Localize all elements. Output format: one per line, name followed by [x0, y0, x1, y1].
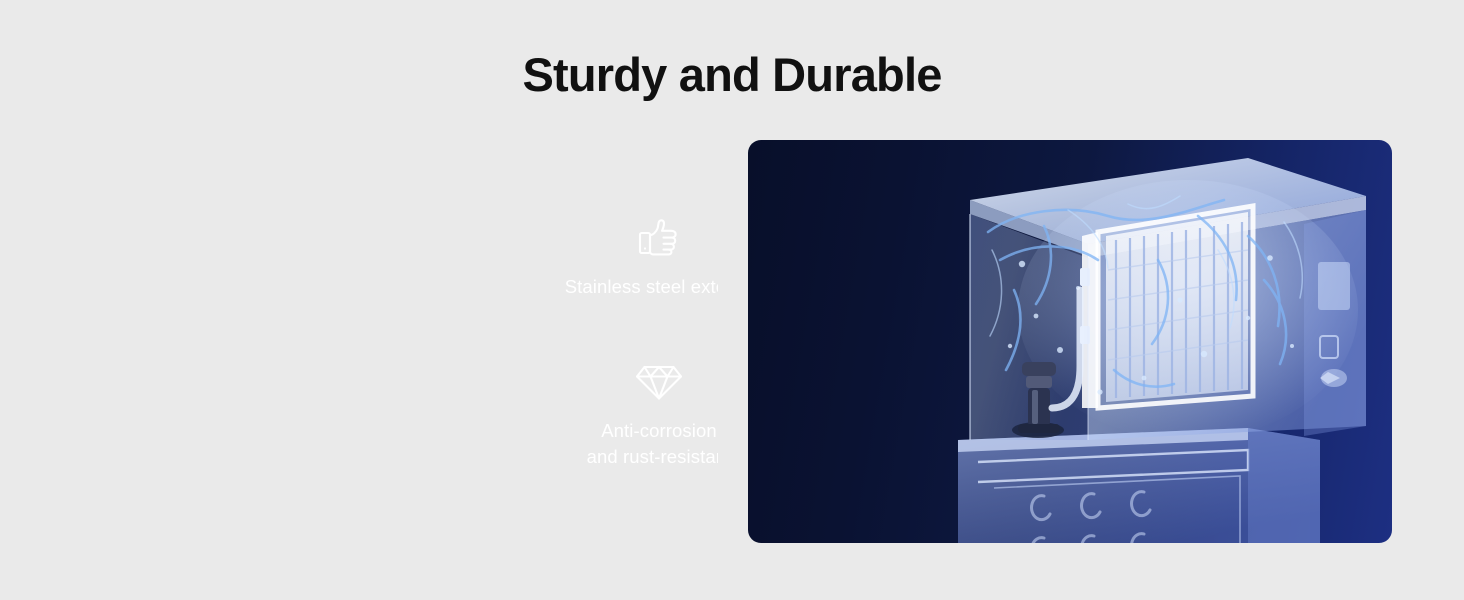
- panel-easy-maintenance: Easy to clean Easy to place: [748, 140, 1392, 543]
- diamond-icon: [636, 358, 682, 404]
- feature-anti-corrosion: Anti-corrosion and rust-resistant: [534, 358, 718, 470]
- feature-stainless-steel-exterior: Stainless steel exterior: [534, 214, 718, 300]
- feature-list-left: Stainless steel exterior: [534, 140, 718, 543]
- ice-machine-product-image: VEVOR: [72, 140, 538, 543]
- xray-cutaway-product-image: [948, 140, 1392, 543]
- marketing-banner: Sturdy and Durable: [0, 0, 1464, 600]
- feature-label: Anti-corrosion and rust-resistant: [587, 418, 718, 470]
- panel-stainless-steel: VEVOR: [72, 140, 718, 543]
- thumbs-up-icon: [636, 214, 682, 260]
- feature-label: Stainless steel exterior: [565, 274, 718, 300]
- page-title: Sturdy and Durable: [0, 46, 1464, 104]
